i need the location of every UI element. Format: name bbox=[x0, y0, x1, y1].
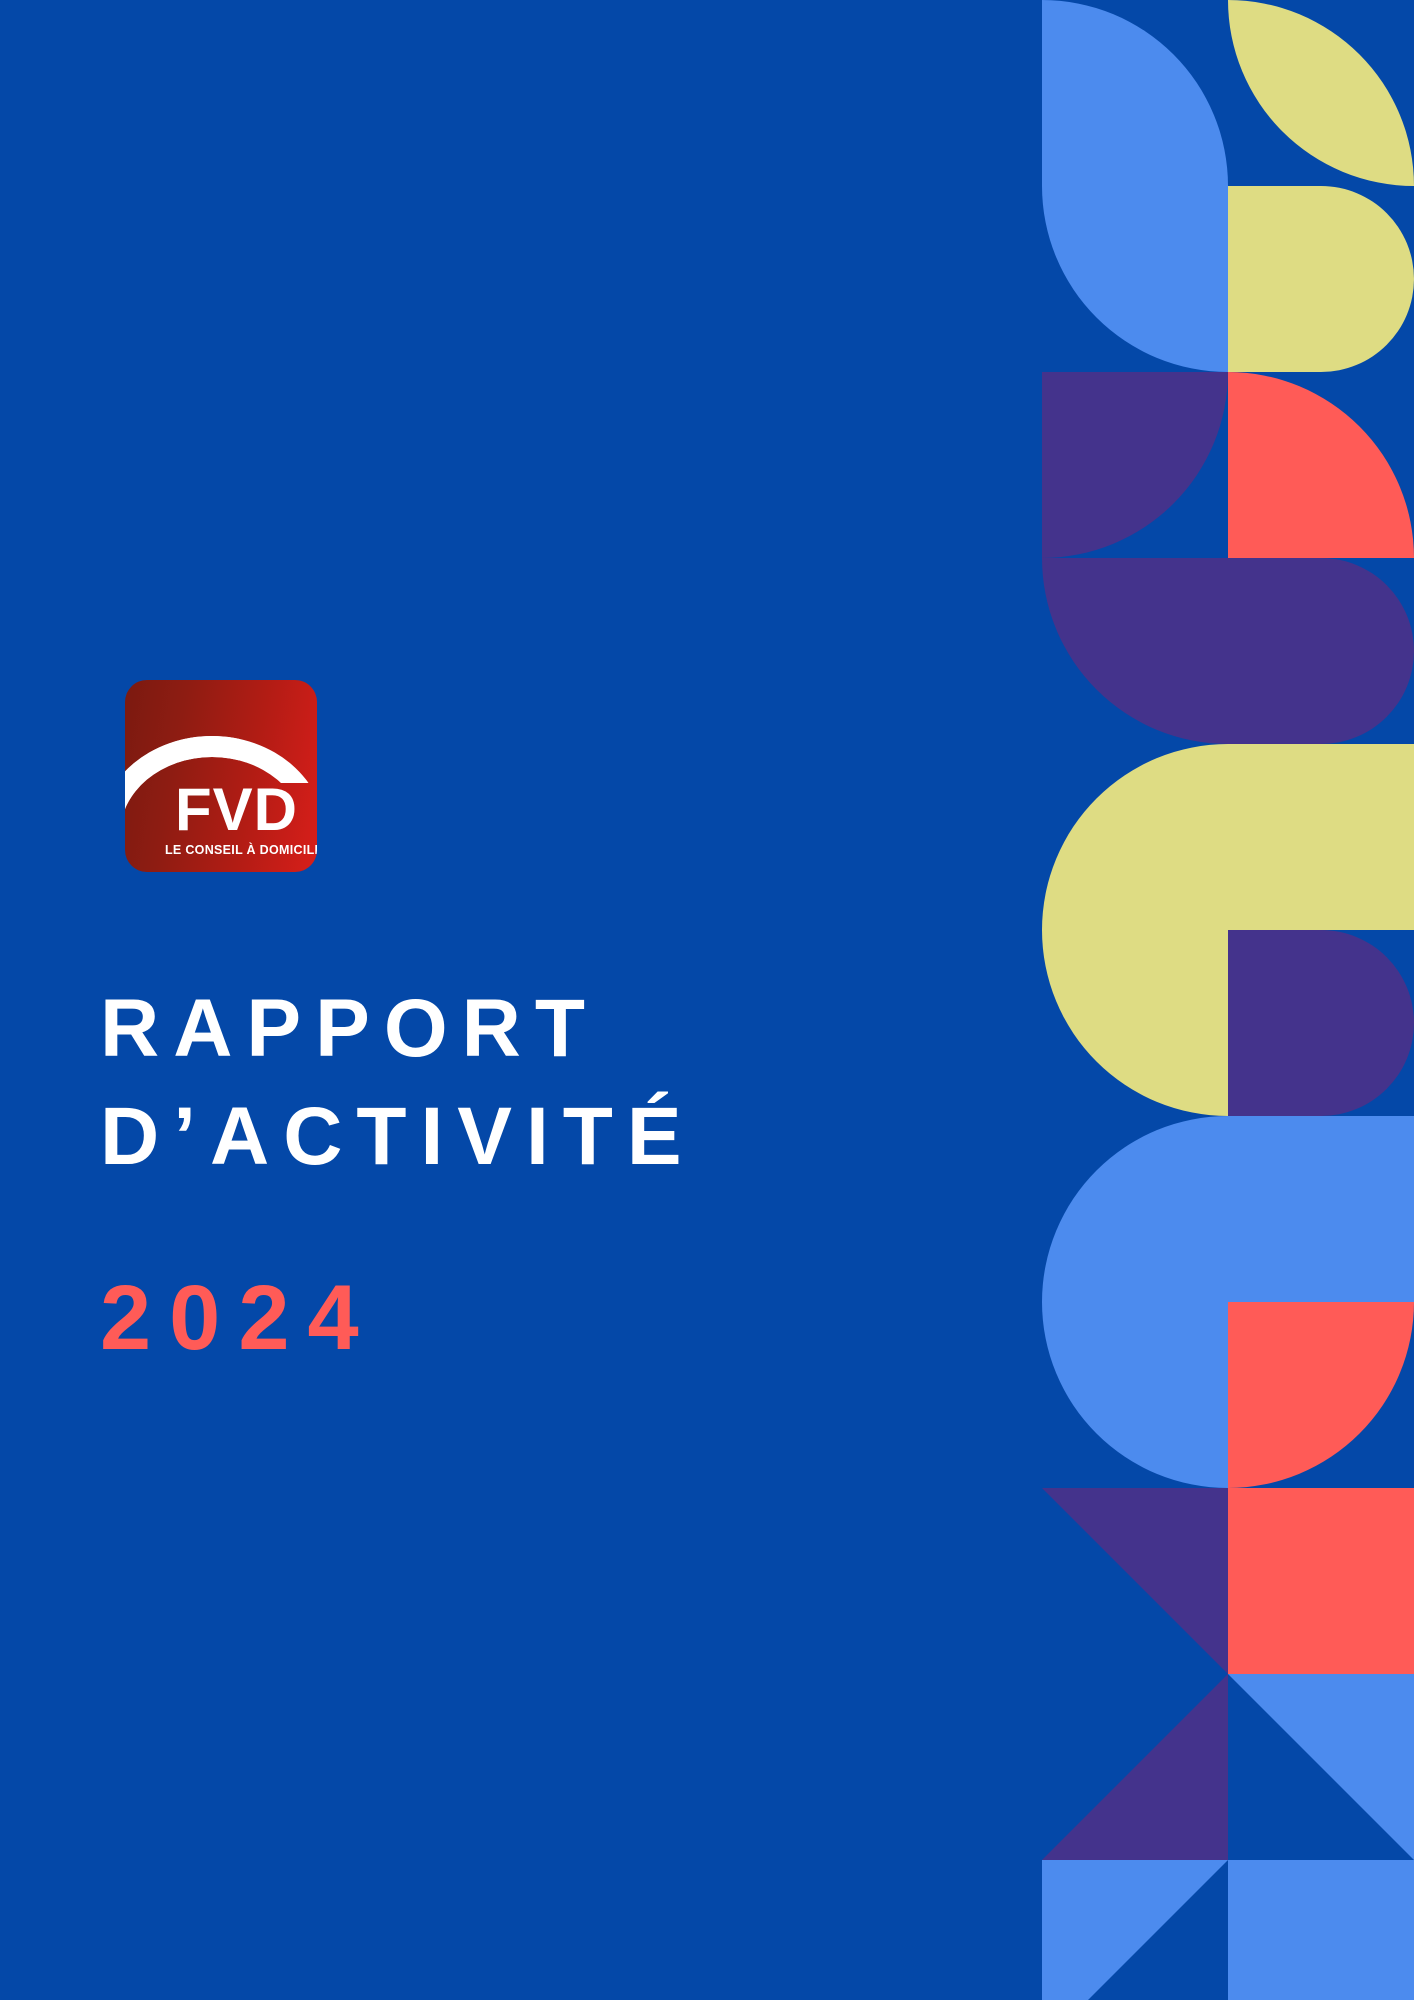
pattern-shape-h-left bbox=[1228, 930, 1414, 1116]
pattern-cell bbox=[1228, 1488, 1414, 1674]
logo-wordmark: FVD bbox=[175, 780, 298, 840]
pattern-cell bbox=[1228, 1302, 1414, 1488]
pattern-shape-q-tr bbox=[1042, 558, 1228, 744]
logo-tile-background: FVD LE CONSEIL À DOMICILE bbox=[125, 680, 317, 872]
pattern-shape-q-br bbox=[1042, 744, 1228, 930]
pattern-cell bbox=[1228, 0, 1414, 186]
pattern-cell bbox=[1228, 1116, 1414, 1302]
pattern-cell bbox=[1228, 558, 1414, 744]
pattern-cell bbox=[1228, 930, 1414, 1116]
logo-tagline: LE CONSEIL À DOMICILE bbox=[165, 843, 317, 857]
pattern-cell bbox=[1042, 930, 1228, 1116]
pattern-shape-h-left bbox=[1228, 558, 1414, 744]
pattern-shape-q-bl bbox=[1228, 372, 1414, 558]
pattern-shape-q-tr bbox=[1042, 186, 1228, 372]
pattern-shape-q-br bbox=[1042, 1116, 1228, 1302]
pattern-cell bbox=[1228, 1860, 1414, 2000]
pattern-cell bbox=[1228, 186, 1414, 372]
page-title: RAPPORT D’ACTIVITÉ bbox=[100, 975, 860, 1191]
title-line-1: RAPPORT bbox=[100, 975, 860, 1083]
pattern-shape-t-br bbox=[1042, 1674, 1228, 1860]
pattern-cell bbox=[1042, 558, 1228, 744]
pattern-shape-leaf-b bbox=[1228, 0, 1414, 186]
pattern-cell bbox=[1042, 1302, 1228, 1488]
pattern-shape-sq bbox=[1228, 1488, 1414, 1674]
pattern-shape-t-tr bbox=[1042, 1488, 1228, 1674]
pattern-cell bbox=[1042, 0, 1228, 186]
title-line-2: D’ACTIVITÉ bbox=[100, 1083, 860, 1191]
report-cover-page: FVD LE CONSEIL À DOMICILE RAPPORT D’ACTI… bbox=[0, 0, 1414, 2000]
fvd-logo: FVD LE CONSEIL À DOMICILE bbox=[125, 680, 317, 872]
pattern-cell bbox=[1042, 372, 1228, 558]
pattern-cell bbox=[1042, 186, 1228, 372]
pattern-shape-sq bbox=[1228, 1860, 1414, 2000]
pattern-cell bbox=[1042, 1488, 1228, 1674]
geometric-pattern-band bbox=[1042, 0, 1414, 2000]
pattern-shape-sq bbox=[1228, 744, 1414, 930]
pattern-shape-q-tl bbox=[1228, 1302, 1414, 1488]
pattern-shape-t-tl bbox=[1042, 1860, 1228, 2000]
pattern-shape-q-tr bbox=[1042, 930, 1228, 1116]
report-year: 2024 bbox=[100, 1272, 377, 1364]
pattern-cell bbox=[1042, 1860, 1228, 2000]
pattern-shape-h-left bbox=[1228, 186, 1414, 372]
pattern-cell bbox=[1228, 744, 1414, 930]
pattern-cell bbox=[1228, 372, 1414, 558]
pattern-shape-q-bl bbox=[1042, 0, 1228, 186]
pattern-shape-sq bbox=[1228, 1116, 1414, 1302]
pattern-cell bbox=[1042, 744, 1228, 930]
pattern-shape-t-tr bbox=[1228, 1674, 1414, 1860]
pattern-shape-q-tr bbox=[1042, 1302, 1228, 1488]
pattern-cell bbox=[1042, 1116, 1228, 1302]
pattern-shape-q-tl bbox=[1042, 372, 1228, 558]
pattern-cell bbox=[1042, 1674, 1228, 1860]
pattern-cell bbox=[1228, 1674, 1414, 1860]
